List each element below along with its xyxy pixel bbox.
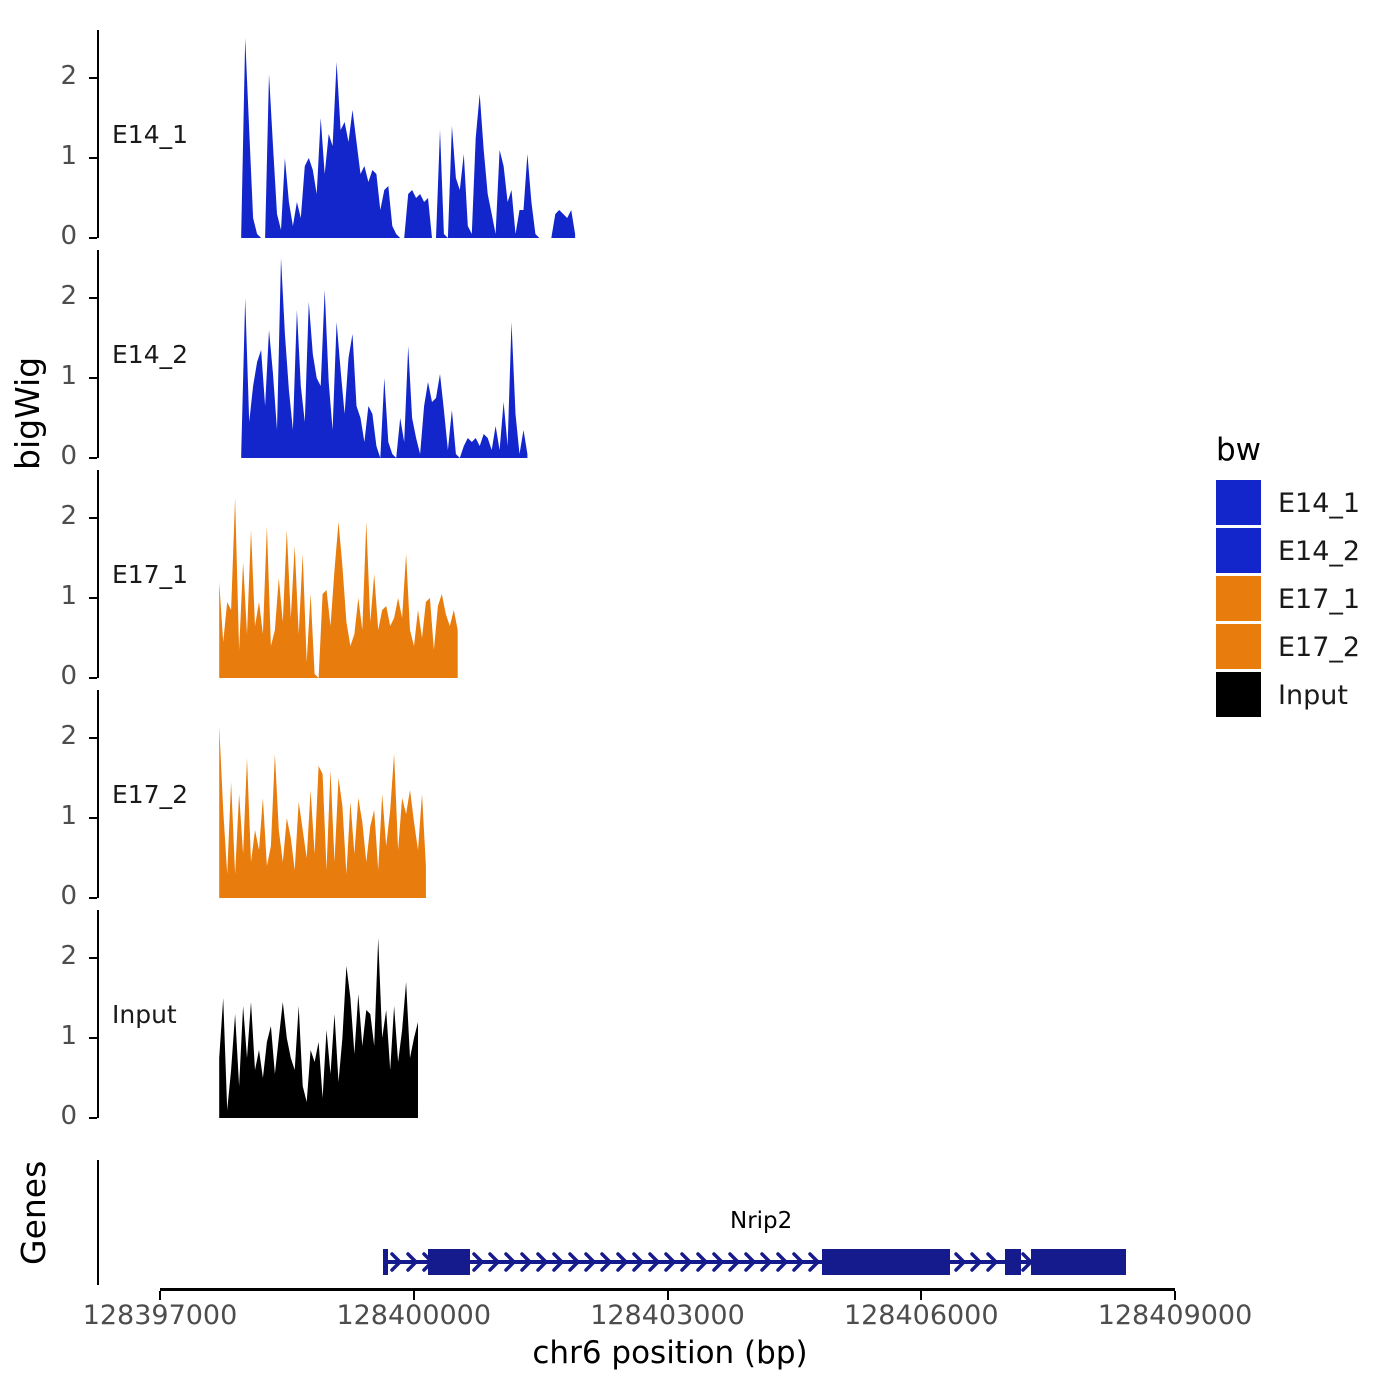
x-tick-label-128400000: 128400000 bbox=[304, 1300, 524, 1331]
coverage-area-E17_2 bbox=[0, 690, 1400, 902]
legend-label-E17_1: E17_1 bbox=[1278, 584, 1360, 615]
x-tick-128400000 bbox=[413, 1291, 415, 1300]
coverage-area-E14_2 bbox=[0, 250, 1400, 462]
legend-swatch-E17_2[interactable] bbox=[1216, 624, 1261, 669]
coverage-area-E17_1 bbox=[0, 470, 1400, 682]
legend-swatch-Input[interactable] bbox=[1216, 672, 1261, 717]
x-tick-label-128397000: 128397000 bbox=[50, 1300, 270, 1331]
legend-title: bw bbox=[1216, 432, 1261, 468]
x-tick-128406000 bbox=[920, 1291, 922, 1300]
gene-model[interactable] bbox=[0, 1240, 1400, 1300]
legend-label-Input: Input bbox=[1278, 680, 1348, 711]
coverage-area-E14_1 bbox=[0, 30, 1400, 242]
x-tick-label-128403000: 128403000 bbox=[558, 1300, 778, 1331]
legend-label-E17_2: E17_2 bbox=[1278, 632, 1360, 663]
x-axis-title: chr6 position (bp) bbox=[360, 1335, 980, 1371]
legend-label-E14_2: E14_2 bbox=[1278, 536, 1360, 567]
legend-swatch-E14_2[interactable] bbox=[1216, 528, 1261, 573]
x-tick-128403000 bbox=[667, 1291, 669, 1300]
x-tick-128397000 bbox=[159, 1291, 161, 1300]
x-tick-label-128406000: 128406000 bbox=[811, 1300, 1031, 1331]
coverage-area-Input bbox=[0, 910, 1400, 1122]
legend-label-E14_1: E14_1 bbox=[1278, 488, 1360, 519]
legend-swatch-E17_1[interactable] bbox=[1216, 576, 1261, 621]
legend-swatch-E14_1[interactable] bbox=[1216, 480, 1261, 525]
x-tick-128409000 bbox=[1174, 1291, 1176, 1300]
x-tick-label-128409000: 128409000 bbox=[1065, 1300, 1285, 1331]
gene-name-label: Nrip2 bbox=[730, 1208, 792, 1234]
